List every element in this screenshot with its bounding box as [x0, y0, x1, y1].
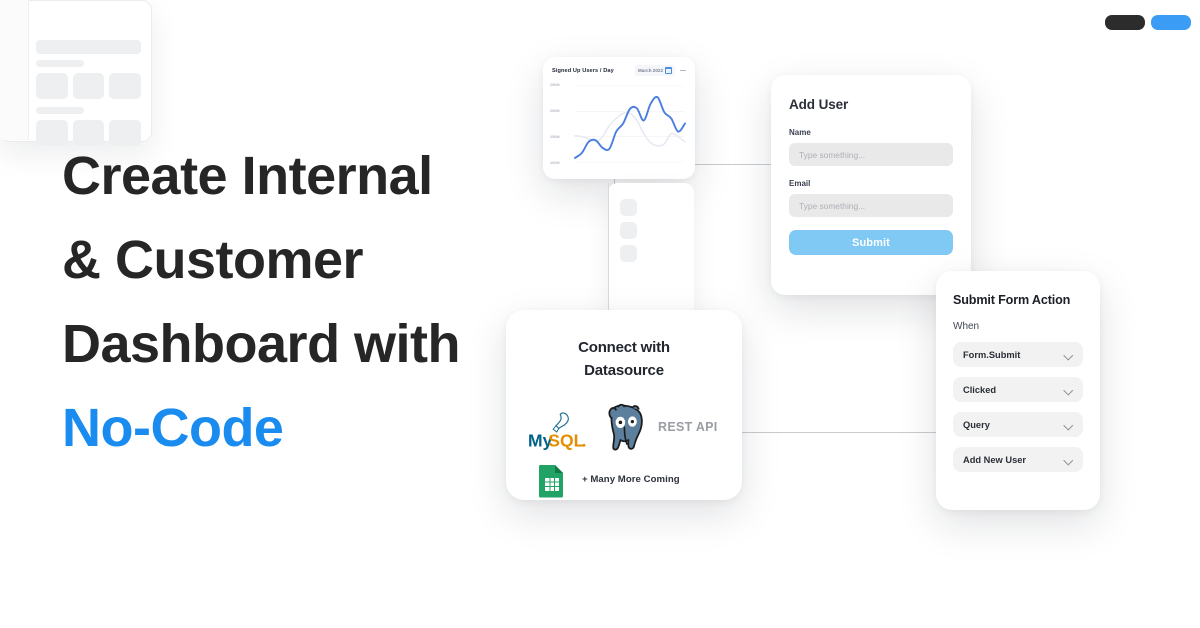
chart-header-controls: March 2022 [635, 65, 686, 76]
name-input-placeholder: Type something... [799, 150, 865, 160]
wireframe-cell [73, 120, 105, 142]
chevron-down-icon [1064, 455, 1073, 464]
chart-plot-area: 250M 200M 150M 100M [543, 79, 695, 177]
chevron-down-icon [1064, 350, 1073, 359]
svg-text:SQL: SQL [548, 431, 584, 451]
date-range-label: March 2022 [638, 68, 663, 73]
wireframe-cell [109, 120, 141, 142]
wireframe-sidebar [0, 0, 29, 140]
wireframe-placeholder-bar-short [36, 60, 84, 67]
y-tick-0: 250M [550, 83, 570, 87]
chart-y-axis-labels: 250M 200M 150M 100M [550, 83, 570, 165]
name-field-label: Name [789, 128, 953, 137]
submit-button-label: Submit [852, 237, 890, 249]
headline-line-2: & Customer [62, 218, 532, 302]
page-title: Create Internal & Customer Dashboard wit… [62, 134, 532, 470]
wireframe-cell [109, 73, 141, 99]
chart-gridlines [575, 86, 685, 162]
trigger-event-select[interactable]: Form.Submit [953, 342, 1083, 367]
more-coming-label: + Many More Coming [582, 474, 680, 485]
email-input-placeholder: Type something... [799, 201, 865, 211]
submit-form-action-title: Submit Form Action [953, 293, 1083, 307]
submit-form-action-card: Submit Form Action When Form.Submit Clic… [936, 271, 1100, 510]
mini-nav-rail [620, 199, 637, 262]
query-target-value: Add New User [963, 455, 1026, 465]
email-input[interactable]: Type something... [789, 194, 953, 217]
nav-block-3[interactable] [620, 245, 637, 262]
headline-accent-no-code: No-Code [62, 386, 532, 470]
dashboard-wireframe-card [0, 0, 152, 142]
wireframe-row [36, 73, 141, 99]
submit-button[interactable]: Submit [789, 230, 953, 255]
chart-svg [549, 81, 689, 169]
series-signed-up-users-line [575, 97, 685, 158]
signed-up-users-chart-card: Signed Up Users / Day March 2022 250M 20… [543, 57, 695, 179]
y-tick-2: 150M [550, 135, 570, 139]
trigger-state-select[interactable]: Clicked [953, 377, 1083, 402]
add-user-title: Add User [789, 97, 953, 112]
datasource-logo-row: My SQL [506, 398, 742, 458]
datasource-title-line-1: Connect with [506, 336, 742, 359]
nav-block-2[interactable] [620, 222, 637, 239]
headline-line-3: Dashboard with [62, 302, 532, 386]
chevron-down-icon [1064, 420, 1073, 429]
trigger-event-value: Form.Submit [963, 350, 1020, 360]
datasource-more-row: + Many More Coming [506, 462, 742, 508]
datasource-title-line-2: Datasource [506, 359, 742, 382]
nav-block-1[interactable] [620, 199, 637, 216]
wireframe-content [36, 40, 141, 142]
action-type-value: Query [963, 420, 990, 430]
mini-nav-panel [608, 183, 694, 323]
wireframe-cell [73, 73, 105, 99]
name-input[interactable]: Type something... [789, 143, 953, 166]
wireframe-cell [36, 120, 68, 142]
connector-datasource-to-action [742, 432, 950, 433]
google-sheets-icon [539, 464, 565, 498]
wireframe-placeholder-bar-short [36, 107, 84, 114]
wireframe-row [36, 120, 141, 142]
mini-nav-divider [608, 183, 609, 323]
add-user-form-card: Add User Name Type something... Email Ty… [771, 75, 971, 295]
trigger-state-value: Clicked [963, 385, 996, 395]
date-range-picker[interactable]: March 2022 [635, 65, 675, 76]
action-type-select[interactable]: Query [953, 412, 1083, 437]
wireframe-placeholder-bar [36, 40, 141, 54]
y-tick-3: 100M [550, 161, 570, 165]
when-label: When [953, 321, 1083, 332]
rest-api-label: REST API [658, 420, 718, 434]
promo-banner: Create Internal & Customer Dashboard wit… [0, 0, 1200, 628]
chart-title: Signed Up Users / Day [552, 68, 614, 74]
email-field-label: Email [789, 179, 953, 188]
chevron-down-icon [1064, 385, 1073, 394]
chart-header: Signed Up Users / Day March 2022 [543, 57, 695, 79]
mysql-icon: My SQL [528, 410, 598, 454]
datasource-title: Connect with Datasource [506, 336, 742, 382]
connect-datasource-card: Connect with Datasource My SQL [506, 310, 742, 500]
y-tick-1: 200M [550, 109, 570, 113]
calendar-icon [665, 67, 672, 74]
postgresql-icon [602, 402, 650, 454]
minimize-icon[interactable] [680, 70, 686, 71]
query-target-select[interactable]: Add New User [953, 447, 1083, 472]
wireframe-cell [36, 73, 68, 99]
